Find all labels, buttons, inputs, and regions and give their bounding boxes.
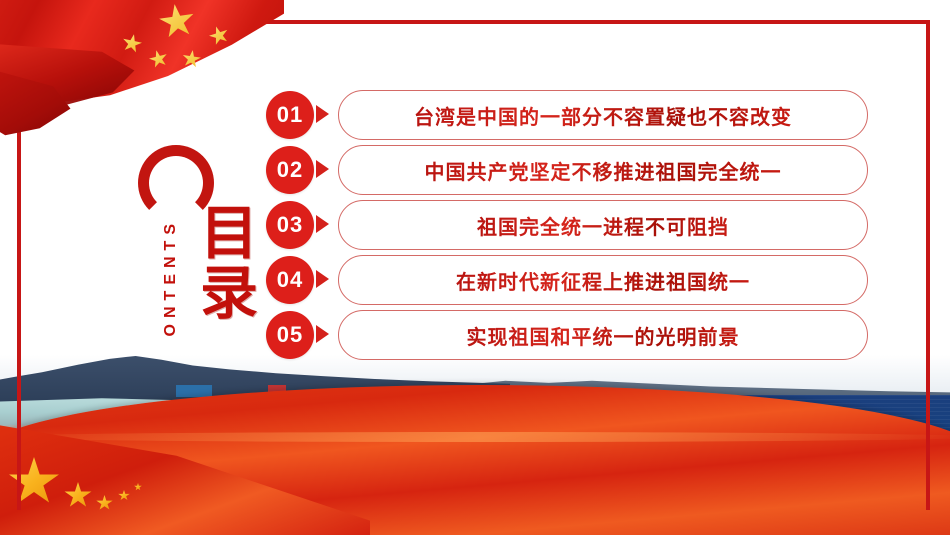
item-pill[interactable]: 台湾是中国的一部分不容置疑也不容改变: [338, 90, 868, 140]
item-number-badge: 02: [266, 146, 314, 194]
list-item[interactable]: 04 在新时代新征程上推进祖国统一: [266, 253, 876, 308]
item-pill[interactable]: 中国共产党坚定不移推进祖国完全统一: [338, 145, 868, 195]
contents-chinese-title: 目录: [192, 202, 254, 322]
contents-list: 01 台湾是中国的一部分不容置疑也不容改变 02 中国共产党坚定不移推进祖国完全…: [266, 88, 876, 363]
chevron-right-icon: [316, 270, 329, 288]
list-item[interactable]: 03 祖国完全统一进程不可阻挡: [266, 198, 876, 253]
item-label: 实现祖国和平统一的光明前景: [467, 321, 740, 350]
contents-english-label: ONTENTS: [162, 218, 180, 336]
item-label: 在新时代新征程上推进祖国统一: [456, 266, 750, 295]
item-label: 祖国完全统一进程不可阻挡: [477, 211, 729, 240]
blue-structure: [176, 385, 212, 397]
list-item[interactable]: 05 实现祖国和平统一的光明前景: [266, 308, 876, 363]
chevron-right-icon: [316, 325, 329, 343]
list-item[interactable]: 01 台湾是中国的一部分不容置疑也不容改变: [266, 88, 876, 143]
item-number-badge: 05: [266, 311, 314, 359]
chevron-right-icon: [316, 215, 329, 233]
item-pill[interactable]: 在新时代新征程上推进祖国统一: [338, 255, 868, 305]
list-item[interactable]: 02 中国共产党坚定不移推进祖国完全统一: [266, 143, 876, 198]
chevron-right-icon: [316, 160, 329, 178]
slide-root: ONTENTS 目录 01 台湾是中国的一部分不容置疑也不容改变 02 中国共产…: [0, 0, 950, 535]
item-number-badge: 04: [266, 256, 314, 304]
chevron-right-icon: [316, 105, 329, 123]
item-pill[interactable]: 祖国完全统一进程不可阻挡: [338, 200, 868, 250]
item-number-badge: 03: [266, 201, 314, 249]
item-label: 中国共产党坚定不移推进祖国完全统一: [425, 156, 782, 185]
contents-heading: ONTENTS 目录: [110, 140, 280, 375]
item-number-badge: 01: [266, 91, 314, 139]
china-flag: [0, 0, 284, 138]
item-label: 台湾是中国的一部分不容置疑也不容改变: [414, 101, 792, 130]
item-pill[interactable]: 实现祖国和平统一的光明前景: [338, 310, 868, 360]
